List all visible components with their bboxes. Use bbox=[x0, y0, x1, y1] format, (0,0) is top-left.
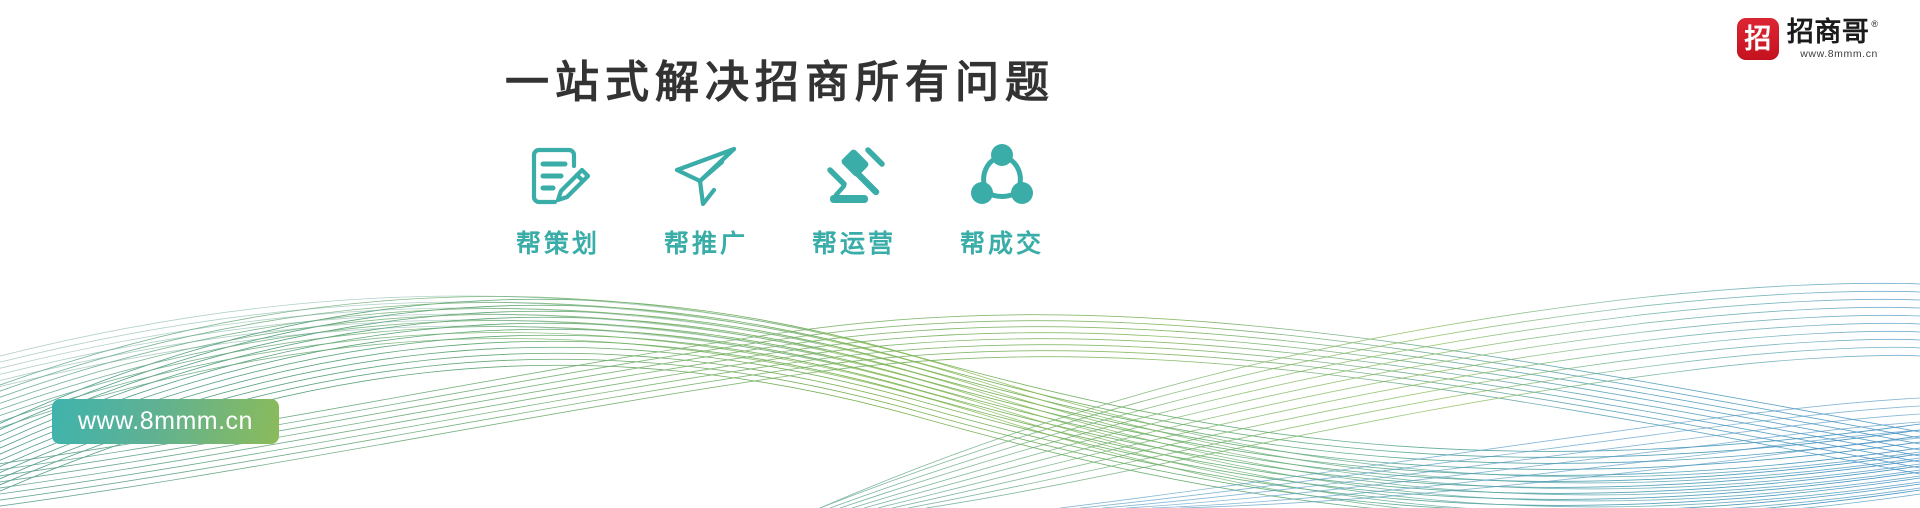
feature-list: 帮策划 帮推广 bbox=[0, 138, 1560, 257]
logo-mark-icon: 招 bbox=[1737, 18, 1779, 60]
feature-item-planning[interactable]: 帮策划 bbox=[484, 138, 632, 257]
promo-banner: 招 招商哥 ® www.8mmm.cn 一站式解决招商所有问题 bbox=[0, 0, 1920, 508]
feature-label: 帮成交 bbox=[960, 232, 1044, 257]
logo-url: www.8mmm.cn bbox=[1787, 48, 1878, 60]
feature-label: 帮运营 bbox=[812, 232, 896, 257]
brand-logo[interactable]: 招 招商哥 ® www.8mmm.cn bbox=[1737, 18, 1878, 60]
paper-plane-icon bbox=[670, 138, 742, 214]
document-pencil-icon bbox=[522, 138, 594, 214]
registered-trademark-icon: ® bbox=[1871, 20, 1878, 29]
feature-item-closing[interactable]: 帮成交 bbox=[928, 138, 1076, 257]
logo-wordmark-row: 招商哥 ® bbox=[1787, 18, 1878, 46]
logo-wordmark: 招商哥 bbox=[1787, 18, 1870, 46]
logo-text-block: 招商哥 ® www.8mmm.cn bbox=[1787, 18, 1878, 60]
url-badge[interactable]: www.8mmm.cn bbox=[52, 399, 279, 444]
logo-mark-glyph: 招 bbox=[1744, 26, 1771, 53]
feature-label: 帮策划 bbox=[516, 232, 600, 257]
gavel-icon bbox=[818, 138, 890, 214]
feature-item-promotion[interactable]: 帮推广 bbox=[632, 138, 780, 257]
feature-item-operations[interactable]: 帮运营 bbox=[780, 138, 928, 257]
banner-headline: 一站式解决招商所有问题 bbox=[0, 57, 1560, 110]
network-share-icon bbox=[966, 138, 1038, 214]
feature-label: 帮推广 bbox=[664, 232, 748, 257]
url-badge-text: www.8mmm.cn bbox=[78, 409, 253, 434]
